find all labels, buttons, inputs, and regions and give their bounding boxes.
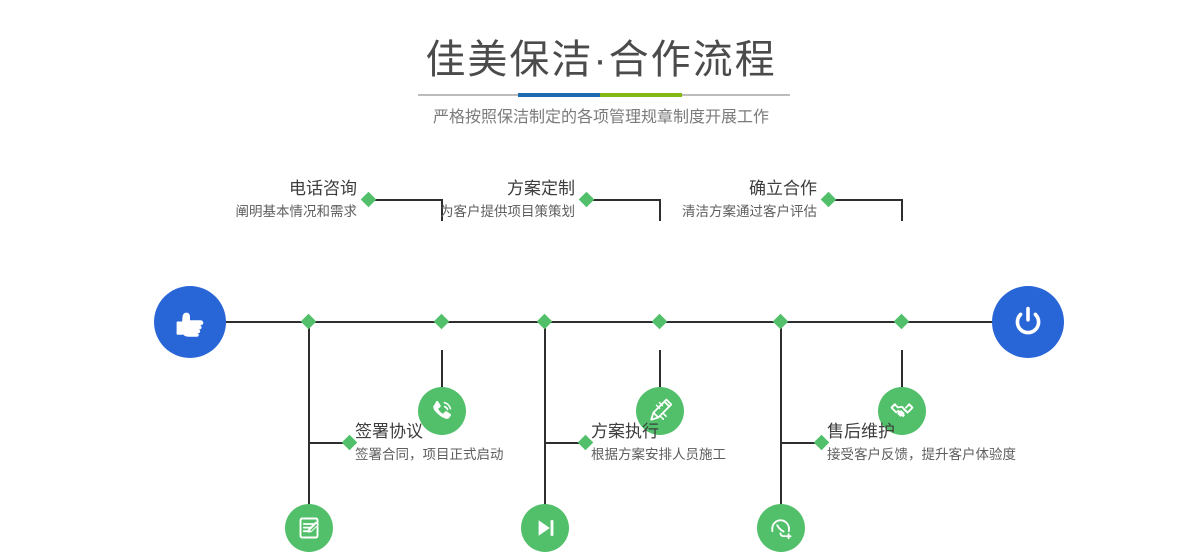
- flow-start-endpoint[interactable]: [154, 286, 226, 358]
- axis-diamond-establish-cooperation: [894, 314, 910, 330]
- axis-diamond-plan-execute: [537, 314, 553, 330]
- connector-stem-after-sales-lower: [780, 420, 782, 443]
- connector-stem-plan-execute-lower: [544, 420, 546, 443]
- connector-arm-phone-consult: [368, 199, 443, 201]
- step-label-plan-execute: 方案执行 根据方案安排人员施工: [591, 421, 726, 465]
- step-title: 签署协议: [355, 421, 504, 443]
- connector-stem-plan-execute: [544, 322, 546, 508]
- step-desc: 清洁方案通过客户评估: [682, 202, 817, 222]
- connector-stem-sign-agreement-lower: [308, 420, 310, 443]
- axis-diamond-phone-consult: [434, 314, 450, 330]
- document-sign-icon: [294, 513, 324, 543]
- step-desc: 为客户提供项目策策划: [440, 202, 575, 222]
- step-label-sign-agreement: 签署协议 签署合同，项目正式启动: [355, 421, 504, 465]
- power-icon: [1007, 301, 1049, 343]
- axis-diamond-sign-agreement: [301, 314, 317, 330]
- flow-end-endpoint[interactable]: [992, 286, 1064, 358]
- process-flow-diagram: 电话咨询 阐明基本情况和需求 签署协议 签署合同，项目正式启动: [0, 150, 1202, 502]
- connector-stem-after-sales: [780, 322, 782, 508]
- axis-diamond-plan-customize: [652, 314, 668, 330]
- page-header: 佳美保洁·合作流程 严格按照保洁制定的各项管理规章制度开展工作: [0, 0, 1202, 150]
- connector-diamond-establish-cooperation: [821, 192, 837, 208]
- axis-diamond-after-sales: [773, 314, 789, 330]
- play-forward-icon: [530, 513, 560, 543]
- divider-blue-segment: [518, 93, 600, 97]
- step-node-after-sales[interactable]: [757, 504, 805, 552]
- step-node-plan-execute[interactable]: [521, 504, 569, 552]
- step-title: 售后维护: [827, 421, 1016, 443]
- timeline-axis: [160, 321, 1042, 323]
- step-label-establish-cooperation: 确立合作 清洁方案通过客户评估: [682, 178, 817, 222]
- pointing-hand-icon: [169, 301, 211, 343]
- step-label-plan-customize: 方案定制 为客户提供项目策策划: [440, 178, 575, 222]
- step-desc: 接受客户反馈，提升客户体验度: [827, 445, 1016, 465]
- step-title: 确立合作: [682, 178, 817, 200]
- connector-stem-plan-customize-upper: [659, 199, 661, 221]
- page-title: 佳美保洁·合作流程: [0, 36, 1202, 84]
- step-node-sign-agreement[interactable]: [285, 504, 333, 552]
- connector-stem-establish-cooperation-upper: [901, 199, 903, 221]
- connector-arm-plan-customize: [586, 199, 661, 201]
- step-title: 方案执行: [591, 421, 726, 443]
- connector-stem-sign-agreement: [308, 322, 310, 508]
- connector-diamond-plan-customize: [579, 192, 595, 208]
- step-title: 电话咨询: [236, 178, 358, 200]
- page-subtitle: 严格按照保洁制定的各项管理规章制度开展工作: [0, 106, 1202, 130]
- step-label-after-sales: 售后维护 接受客户反馈，提升客户体验度: [827, 421, 1016, 465]
- title-divider: [418, 94, 790, 96]
- step-label-phone-consult: 电话咨询 阐明基本情况和需求: [236, 178, 358, 222]
- step-title: 方案定制: [440, 178, 575, 200]
- step-desc: 签署合同，项目正式启动: [355, 445, 504, 465]
- step-desc: 阐明基本情况和需求: [236, 202, 358, 222]
- connector-arm-establish-cooperation: [828, 199, 903, 201]
- step-desc: 根据方案安排人员施工: [591, 445, 726, 465]
- connector-diamond-phone-consult: [361, 192, 377, 208]
- headset-support-icon: [766, 513, 796, 543]
- divider-green-segment: [600, 93, 682, 97]
